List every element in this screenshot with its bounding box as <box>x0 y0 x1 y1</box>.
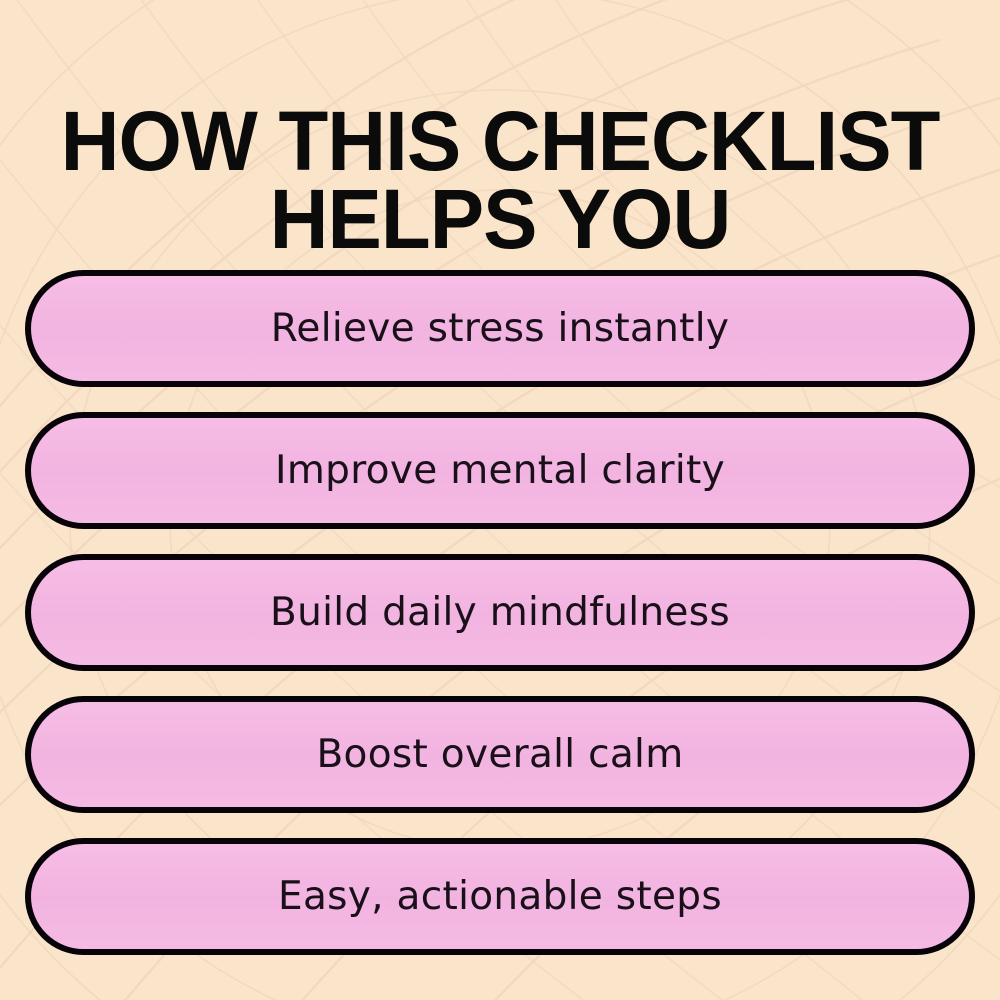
benefit-pill-label: Improve mental clarity <box>275 451 725 490</box>
benefit-pill[interactable]: Build daily mindfulness <box>25 554 975 671</box>
benefit-pill-list: Relieve stress instantly Improve mental … <box>25 270 975 955</box>
benefit-pill-label: Build daily mindfulness <box>270 593 730 632</box>
page-title-line-2: HELPS YOU <box>15 180 985 258</box>
benefit-pill-label: Easy, actionable steps <box>278 877 722 916</box>
benefit-pill[interactable]: Relieve stress instantly <box>25 270 975 387</box>
benefit-pill-label: Relieve stress instantly <box>271 309 729 348</box>
page-title-line-1: HOW THIS CHECKLIST <box>15 102 985 180</box>
benefit-pill[interactable]: Boost overall calm <box>25 696 975 813</box>
benefit-pill[interactable]: Improve mental clarity <box>25 412 975 529</box>
poster-canvas: HOW THIS CHECKLIST HELPS YOU Relieve str… <box>0 0 1000 1000</box>
page-title: HOW THIS CHECKLIST HELPS YOU <box>15 102 985 258</box>
benefit-pill-label: Boost overall calm <box>317 735 684 774</box>
benefit-pill[interactable]: Easy, actionable steps <box>25 838 975 955</box>
